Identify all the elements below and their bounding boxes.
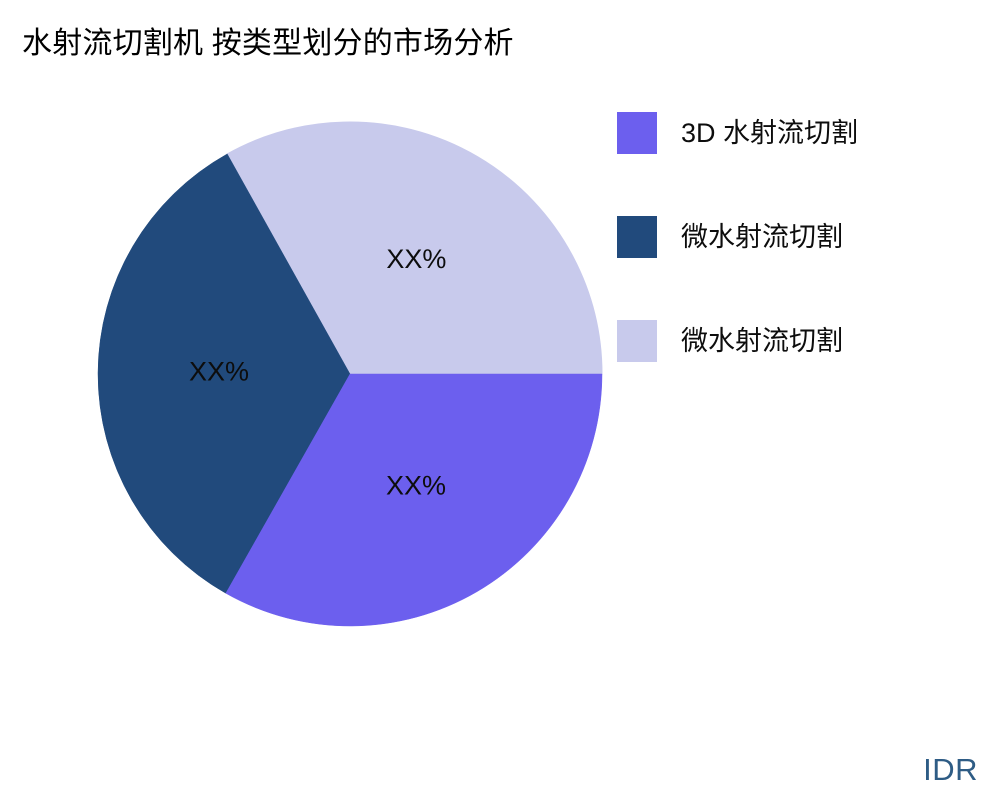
legend-item-micro-light[interactable]: 微水射流切割 xyxy=(617,320,987,362)
legend-swatch-micro-light-icon xyxy=(617,320,657,362)
page-title: 水射流切割机 按类型划分的市场分析 xyxy=(22,24,514,64)
legend-label-micro-light: 微水射流切割 xyxy=(681,325,843,357)
pie-label-3d: XX% xyxy=(386,470,446,500)
legend-label-3d: 3D 水射流切割 xyxy=(681,117,858,149)
legend: 3D 水射流切割 微水射流切割 微水射流切割 xyxy=(617,112,987,362)
legend-item-micro-dark[interactable]: 微水射流切割 xyxy=(617,216,987,258)
legend-item-3d[interactable]: 3D 水射流切割 xyxy=(617,112,987,154)
pie-chart-plot-area: XX% XX% XX% xyxy=(0,95,610,660)
pie-label-micro-dark: XX% xyxy=(189,357,249,387)
legend-swatch-3d-icon xyxy=(617,112,657,154)
legend-swatch-micro-dark-icon xyxy=(617,216,657,258)
pie-label-micro-light: XX% xyxy=(386,244,446,274)
watermark-logo: IDR xyxy=(923,752,978,788)
pie-chart-svg: XX% XX% XX% xyxy=(0,95,610,660)
legend-label-micro-dark: 微水射流切割 xyxy=(681,221,843,253)
